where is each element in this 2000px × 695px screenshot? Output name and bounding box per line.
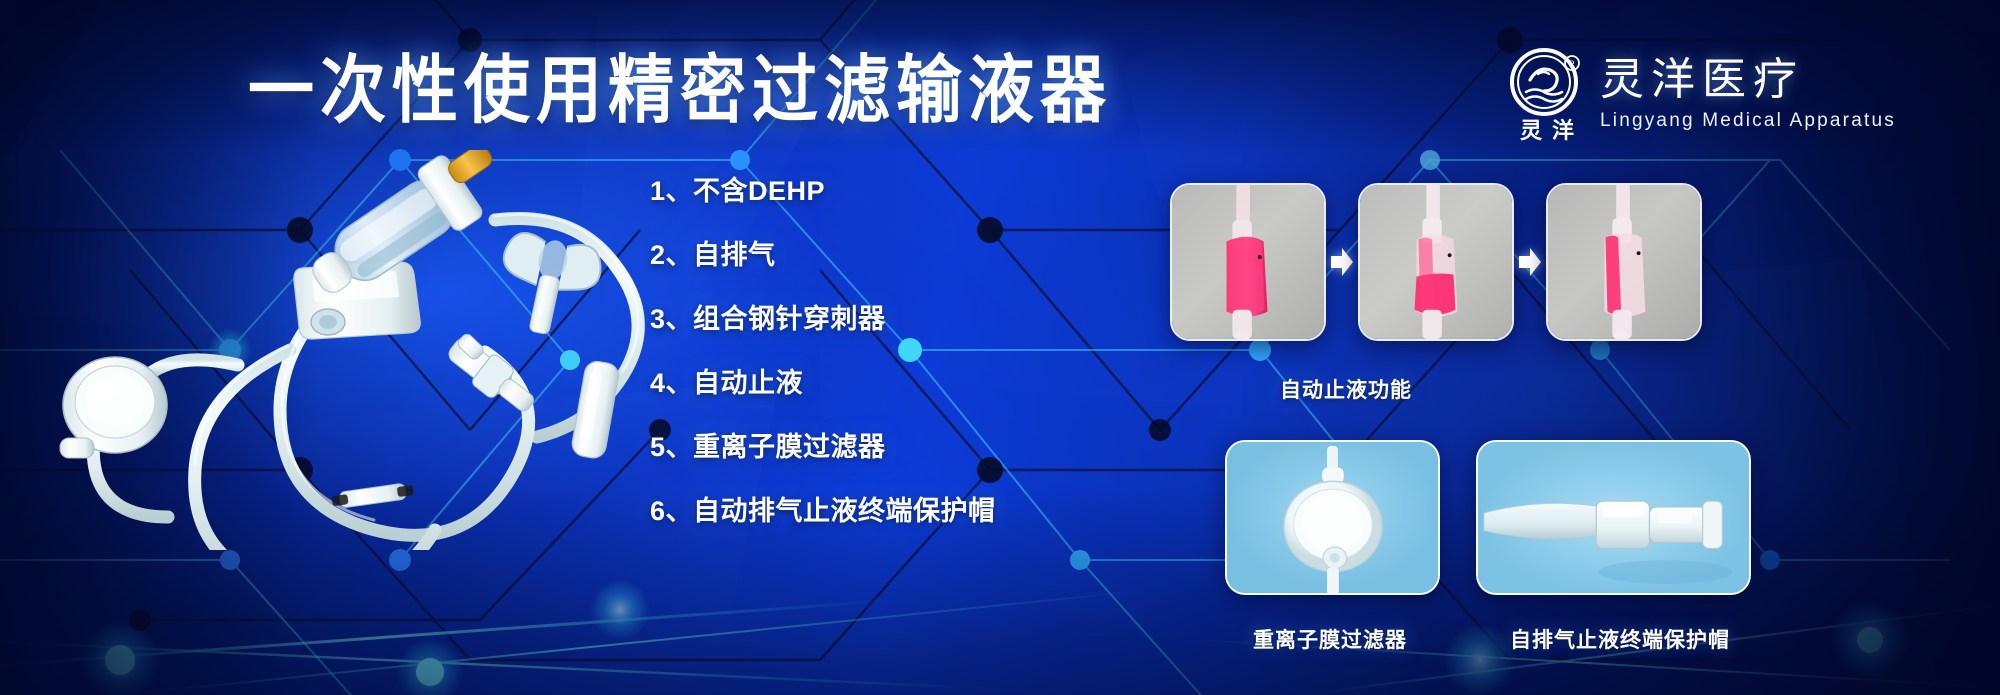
heavy-ion-membrane-filter-caption: 重离子膜过滤器 [1253, 624, 1407, 654]
brand-logo-text: 灵洋医疗 Lingyang Medical Apparatus [1600, 55, 1896, 133]
auto-stop-frame-3 [1546, 183, 1702, 341]
feature-item-5: 5、重离子膜过滤器 [650, 430, 980, 464]
company-name-en: Lingyang Medical Apparatus [1600, 109, 1896, 133]
feature-item-3: 3、组合钢针穿刺器 [650, 302, 980, 336]
auto-stop-sequence-row [1170, 183, 1702, 341]
auto-stop-sequence-caption: 自动止液功能 [1280, 374, 1412, 404]
self-venting-terminal-protective-cap-caption: 自排气止液终端保护帽 [1510, 624, 1730, 654]
product-banner: 一次性使用精密过滤输液器 R 灵 洋 灵洋医疗 Lingyang Medical… [0, 0, 2000, 695]
arrow-right-icon [1330, 247, 1354, 277]
component-panel-row [1225, 440, 1751, 595]
brand-logo: R 灵 洋 灵洋医疗 Lingyang Medical Apparatus [1508, 46, 1896, 142]
iv-infusion-set-photo [40, 150, 680, 550]
feature-item-4: 4、自动止液 [650, 366, 980, 400]
sequence-arrow-2-wrap [1514, 247, 1546, 277]
feature-item-1: 1、不含DEHP [650, 174, 980, 208]
auto-stop-frame-1 [1170, 183, 1326, 341]
auto-stop-frame-2 [1358, 183, 1514, 341]
sequence-arrow-1-wrap [1326, 247, 1358, 277]
lingyang-seal-emblem-icon: R 灵 洋 [1508, 46, 1586, 142]
svg-text:灵: 灵 [1520, 118, 1542, 142]
banner-title-wrap: 一次性使用精密过滤输液器 [248, 46, 1112, 124]
page-title: 一次性使用精密过滤输液器 [248, 46, 1112, 133]
svg-text:洋: 洋 [1552, 118, 1574, 142]
svg-text:R: R [1569, 59, 1575, 69]
company-name-cn: 灵洋医疗 [1600, 55, 1896, 105]
feature-item-6: 6、自动排气止液终端保护帽 [650, 494, 980, 528]
heavy-ion-membrane-filter [1225, 440, 1440, 595]
arrow-right-icon [1518, 247, 1542, 277]
feature-item-2: 2、自排气 [650, 238, 980, 272]
self-venting-terminal-protective-cap [1476, 440, 1751, 595]
feature-list: 1、不含DEHP 2、自排气 3、组合钢针穿刺器 4、自动止液 5、重离子膜过滤… [650, 174, 980, 528]
